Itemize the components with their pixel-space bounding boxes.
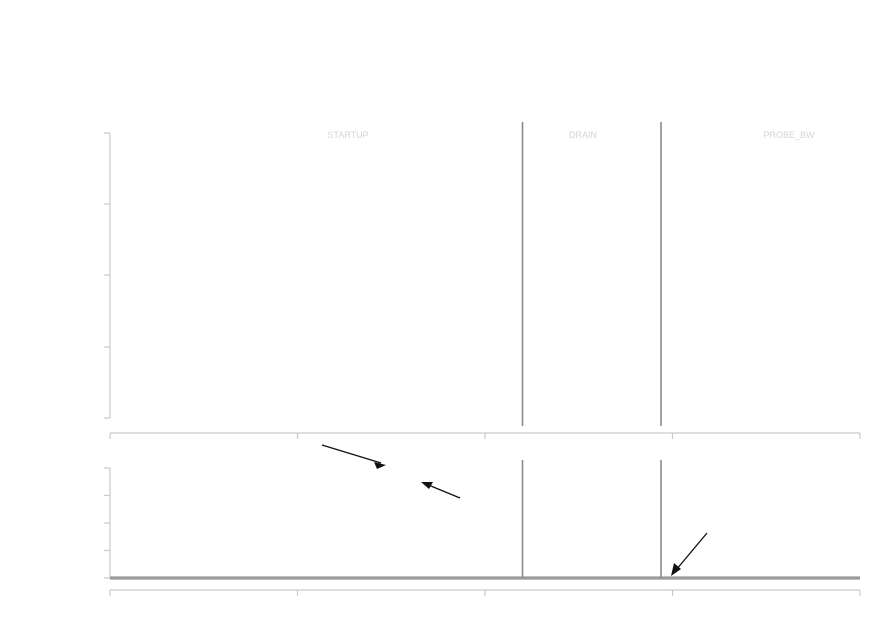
slide: STARTUP DRAIN PROBE_BW <box>0 0 887 627</box>
top-chart-y-ticks <box>104 133 110 418</box>
figure-container: STARTUP DRAIN PROBE_BW <box>0 100 887 627</box>
svg-text:PROBE_BW: PROBE_BW <box>763 130 815 140</box>
performance-figure: STARTUP DRAIN PROBE_BW <box>0 100 887 627</box>
cubic-switch-annotation <box>421 482 460 498</box>
ghost-phase-labels: STARTUP DRAIN PROBE_BW <box>327 130 815 140</box>
svg-text:DRAIN: DRAIN <box>569 130 597 140</box>
bbr-full-bw-annotation <box>671 533 707 576</box>
rtt-chart-y-ticks <box>104 468 110 578</box>
cwnd-gain-annotation <box>322 445 386 469</box>
top-chart-x-ticks <box>110 433 860 439</box>
svg-text:STARTUP: STARTUP <box>327 130 368 140</box>
rtt-chart-x-ticks <box>110 590 860 596</box>
